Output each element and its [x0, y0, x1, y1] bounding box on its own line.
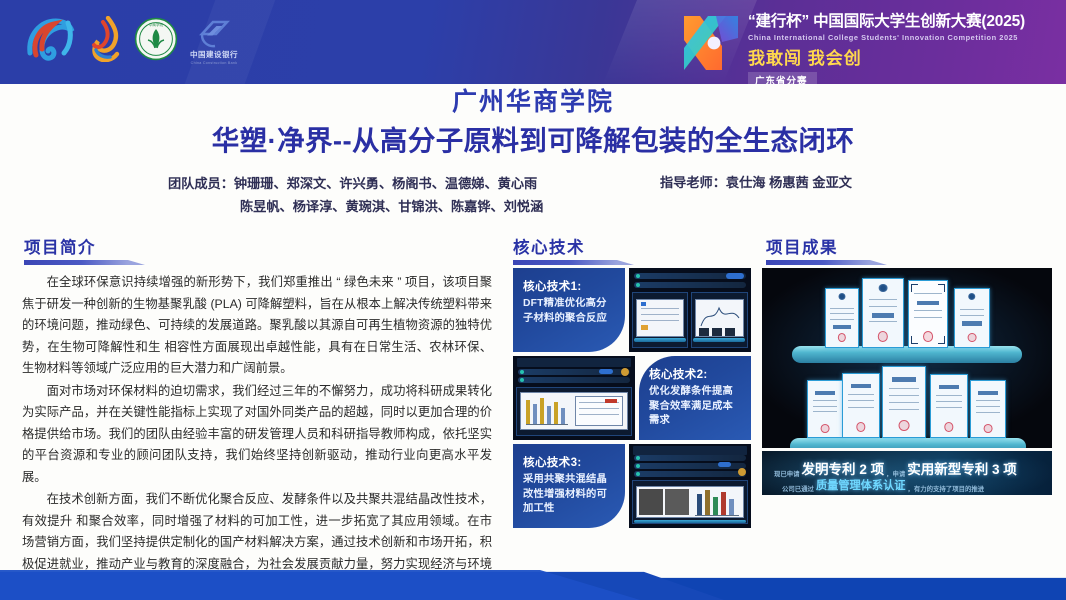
core-tech-3-desc: 采用共聚共混结晶改性增强材料的可加工性 [523, 473, 617, 517]
core-tech-2-desc: 优化发酵条件提高聚合效率满足成本需求 [649, 385, 743, 429]
certificate-shelf-bottom [790, 438, 1026, 448]
ccb-bank-logo: 中国建设银行 China Construction Bank [190, 18, 238, 65]
section-heading-results: 项目成果 [766, 234, 870, 265]
certificate [882, 366, 926, 438]
section-heading-intro-rule [24, 260, 128, 265]
quality-certification: 质量管理体系认证 [816, 477, 906, 493]
core-tech-3-screenshot [629, 444, 751, 528]
x-mark-logo [678, 12, 744, 74]
core-tech-2-screenshot [513, 356, 635, 440]
school-name: 广州华商学院 [0, 88, 1066, 117]
certificate [807, 380, 843, 438]
advisors: 指导老师：袁仕海 杨惠茜 金亚文 [660, 172, 852, 191]
core-tech-2-number: 核心技术2: [649, 366, 743, 382]
core-tech-item-1: 核心技术1: DFT精准优化高分子材料的聚合反应 [513, 268, 751, 352]
team-members: 团队成员：钟珊珊、郑深文、许兴勇、杨阁书、温德娣、黄心雨 陈昱帆、杨译淳、黄琬淇… [168, 172, 543, 218]
section-heading-intro-label: 项目简介 [24, 234, 96, 258]
core-tech-1-desc: DFT精准优化高分子材料的聚合反应 [523, 297, 617, 326]
page-footer [0, 554, 1066, 600]
title-block: 广州华商学院 华塑·净界--从高分子原料到可降解包装的全生态闭环 [0, 88, 1066, 156]
certificate [954, 288, 990, 348]
core-tech-3-number: 核心技术3: [523, 454, 617, 470]
core-tech-1-pill: 核心技术1: DFT精准优化高分子材料的聚合反应 [513, 268, 625, 352]
core-tech-1-number: 核心技术1: [523, 278, 617, 294]
certificate [862, 278, 904, 348]
certificate [908, 280, 948, 348]
section-heading-results-label: 项目成果 [766, 234, 838, 258]
certificate [970, 380, 1006, 438]
project-title: 华塑·净界--从高分子原料到可降解包装的全生态闭环 [0, 125, 1066, 157]
section-heading-intro: 项目简介 [24, 234, 128, 265]
certificate-display [762, 268, 1052, 448]
patent-utility-count: 实用新型专利 3 项 [907, 458, 1017, 478]
certificate [842, 373, 880, 438]
patent-summary-banner: 现已申请 发明专利 2 项 ，申请 实用新型专利 3 项 公司已通过 质量管理体… [762, 451, 1052, 495]
section-heading-core-label: 核心技术 [513, 234, 585, 258]
flame-logo [88, 16, 122, 67]
svg-text:华商学院: 华商学院 [149, 22, 164, 27]
section-heading-core-rule [513, 260, 617, 265]
core-tech-2-pill: 核心技术2: 优化发酵条件提高聚合效率满足成本需求 [639, 356, 751, 440]
competition-badge: “建行杯” 中国国际大学生创新大赛(2025) China Internatio… [670, 4, 1060, 82]
certificate [930, 374, 968, 438]
patent-line2-prefix: 公司已通过 [782, 484, 814, 493]
intro-paragraph-1: 在全球环保意识持续增强的新形势下，我们郑重推出 “ 绿色未来 ” 项目，该项目聚… [22, 272, 492, 380]
wave-logo [24, 13, 76, 70]
team-members-row-1: 团队成员：钟珊珊、郑深文、许兴勇、杨阁书、温德娣、黄心雨 [168, 172, 543, 195]
ccb-bank-subname: China Construction Bank [191, 61, 238, 65]
certificate-shelf-top [792, 346, 1022, 363]
core-tech-item-3: 核心技术3: 采用共聚共混结晶改性增强材料的可加工性 [513, 444, 751, 528]
patent-line2-suffix: ，有力的支持了项目的推进 [907, 484, 984, 493]
certificate [825, 288, 859, 348]
university-seal-logo: 华商学院 [134, 17, 178, 66]
ccb-bank-name: 中国建设银行 [190, 49, 238, 60]
competition-slogan: 我敢闯 我会创 [748, 44, 1025, 69]
competition-region-badge: 广东省分赛 [748, 72, 817, 84]
curve-plot-icon [699, 302, 741, 328]
ccb-cube-icon [197, 18, 231, 48]
core-tech-3-pill: 核心技术3: 采用共聚共混结晶改性增强材料的可加工性 [513, 444, 625, 528]
project-intro-text: 在全球环保意识持续增强的新形势下，我们郑重推出 “ 绿色未来 ” 项目，该项目聚… [22, 272, 492, 598]
core-tech-item-2: 核心技术2: 优化发酵条件提高聚合效率满足成本需求 [513, 356, 751, 440]
competition-title: “建行杯” 中国国际大学生创新大赛(2025) [748, 9, 1025, 31]
project-results: 现已申请 发明专利 2 项 ，申请 实用新型专利 3 项 公司已通过 质量管理体… [762, 268, 1052, 495]
team-members-row-2: 陈昱帆、杨译淳、黄琬淇、甘锦洪、陈嘉铧、刘悦涵 [168, 195, 543, 218]
sponsor-logo-group: 华商学院 中国建设银行 China Construction Bank [24, 11, 238, 71]
intro-paragraph-2: 面对市场对环保材料的迫切需求，我们经过三年的不懈努力，成功将科研成果转化为实际产… [22, 381, 492, 489]
competition-title-en: China International College Students' In… [748, 33, 1025, 42]
patent-invention-count: 发明专利 2 项 [802, 458, 885, 478]
page-header: 华商学院 中国建设银行 China Construction Bank [0, 0, 1066, 84]
section-heading-results-rule [766, 260, 870, 265]
core-tech-1-screenshot [629, 268, 751, 352]
section-heading-core: 核心技术 [513, 234, 617, 265]
core-technology-list: 核心技术1: DFT精准优化高分子材料的聚合反应 [513, 268, 751, 532]
